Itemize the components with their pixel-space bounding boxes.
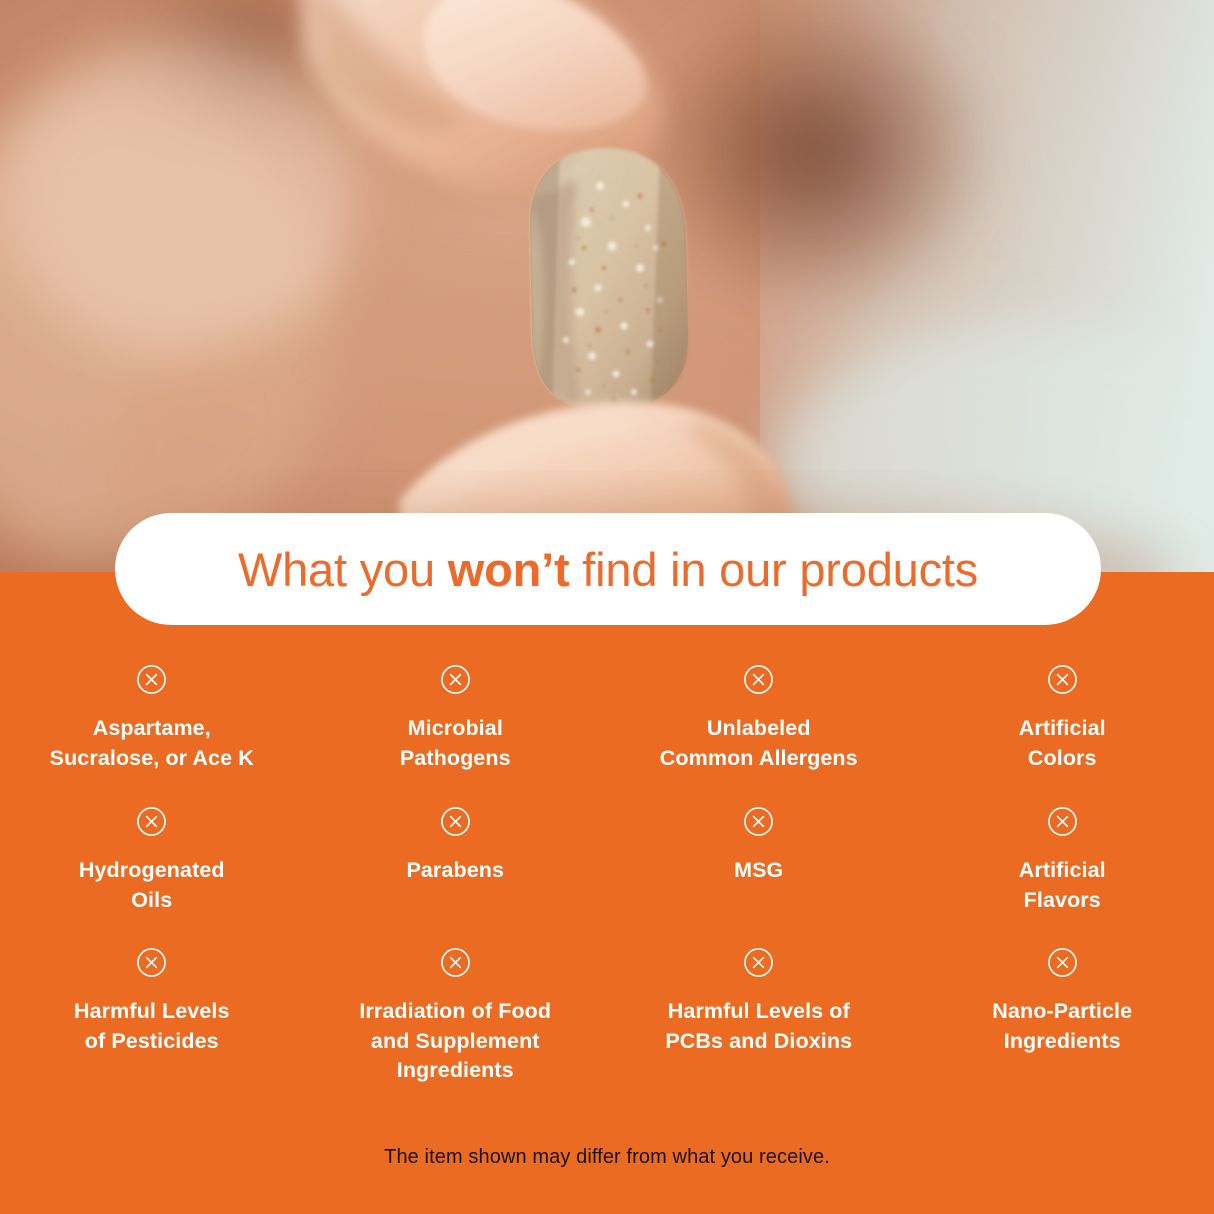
exclusion-label: Irradiation of Food and Supplement Ingre… <box>359 997 551 1086</box>
exclusion-item: Hydrogenated Oils <box>0 797 304 938</box>
circle-x-icon <box>440 947 471 978</box>
exclusion-label: Aspartame, Sucralose, or Ace K <box>50 714 254 773</box>
circle-x-icon <box>136 806 167 837</box>
disclaimer-text: The item shown may differ from what you … <box>0 1146 1214 1169</box>
infographic-card: What you won’t find in our products Aspa… <box>0 0 1214 1214</box>
exclusion-item: Microbial Pathogens <box>304 655 608 797</box>
exclusions-row: Hydrogenated Oils Parabens MSG <box>0 797 1214 938</box>
exclusion-label: Hydrogenated Oils <box>79 856 225 915</box>
circle-x-icon <box>136 664 167 695</box>
circle-x-icon <box>1047 947 1078 978</box>
page-title: What you won’t find in our products <box>238 546 978 593</box>
circle-x-icon <box>743 806 774 837</box>
exclusion-label: Unlabeled Common Allergens <box>660 714 858 773</box>
exclusion-label: Nano-Particle Ingredients <box>992 997 1132 1056</box>
circle-x-icon <box>440 664 471 695</box>
exclusion-item: Unlabeled Common Allergens <box>607 655 911 797</box>
exclusions-row: Harmful Levels of Pesticides Irradiation… <box>0 938 1214 1088</box>
headline-banner: What you won’t find in our products <box>115 513 1101 625</box>
exclusion-item: Irradiation of Food and Supplement Ingre… <box>304 938 608 1088</box>
product-photo <box>0 0 1214 572</box>
exclusion-label: Artificial Flavors <box>1019 856 1106 915</box>
exclusions-grid: Aspartame, Sucralose, or Ace K Microbial… <box>0 655 1214 1088</box>
exclusion-label: MSG <box>734 856 783 886</box>
exclusion-label: Harmful Levels of Pesticides <box>74 997 230 1056</box>
exclusion-item: Harmful Levels of PCBs and Dioxins <box>607 938 911 1088</box>
exclusion-item: Aspartame, Sucralose, or Ace K <box>0 655 304 797</box>
exclusion-item: Artificial Colors <box>911 655 1214 797</box>
exclusion-label: Parabens <box>406 856 504 886</box>
circle-x-icon <box>743 664 774 695</box>
exclusion-item: Harmful Levels of Pesticides <box>0 938 304 1088</box>
exclusion-label: Artificial Colors <box>1019 714 1106 773</box>
circle-x-icon <box>743 947 774 978</box>
headline-part-2: find in our products <box>569 543 978 596</box>
circle-x-icon <box>136 947 167 978</box>
exclusion-label: Microbial Pathogens <box>400 714 511 773</box>
exclusion-item: Artificial Flavors <box>911 797 1214 938</box>
exclusions-row: Aspartame, Sucralose, or Ace K Microbial… <box>0 655 1214 797</box>
exclusion-item: Nano-Particle Ingredients <box>911 938 1214 1088</box>
circle-x-icon <box>440 806 471 837</box>
product-photo-illustration <box>0 0 1214 572</box>
circle-x-icon <box>1047 806 1078 837</box>
headline-part-1: What you <box>238 543 448 596</box>
exclusion-item: MSG <box>607 797 911 938</box>
circle-x-icon <box>1047 664 1078 695</box>
exclusion-item: Parabens <box>304 797 608 938</box>
exclusion-label: Harmful Levels of PCBs and Dioxins <box>665 997 852 1056</box>
headline-emphasis: won’t <box>448 543 570 596</box>
